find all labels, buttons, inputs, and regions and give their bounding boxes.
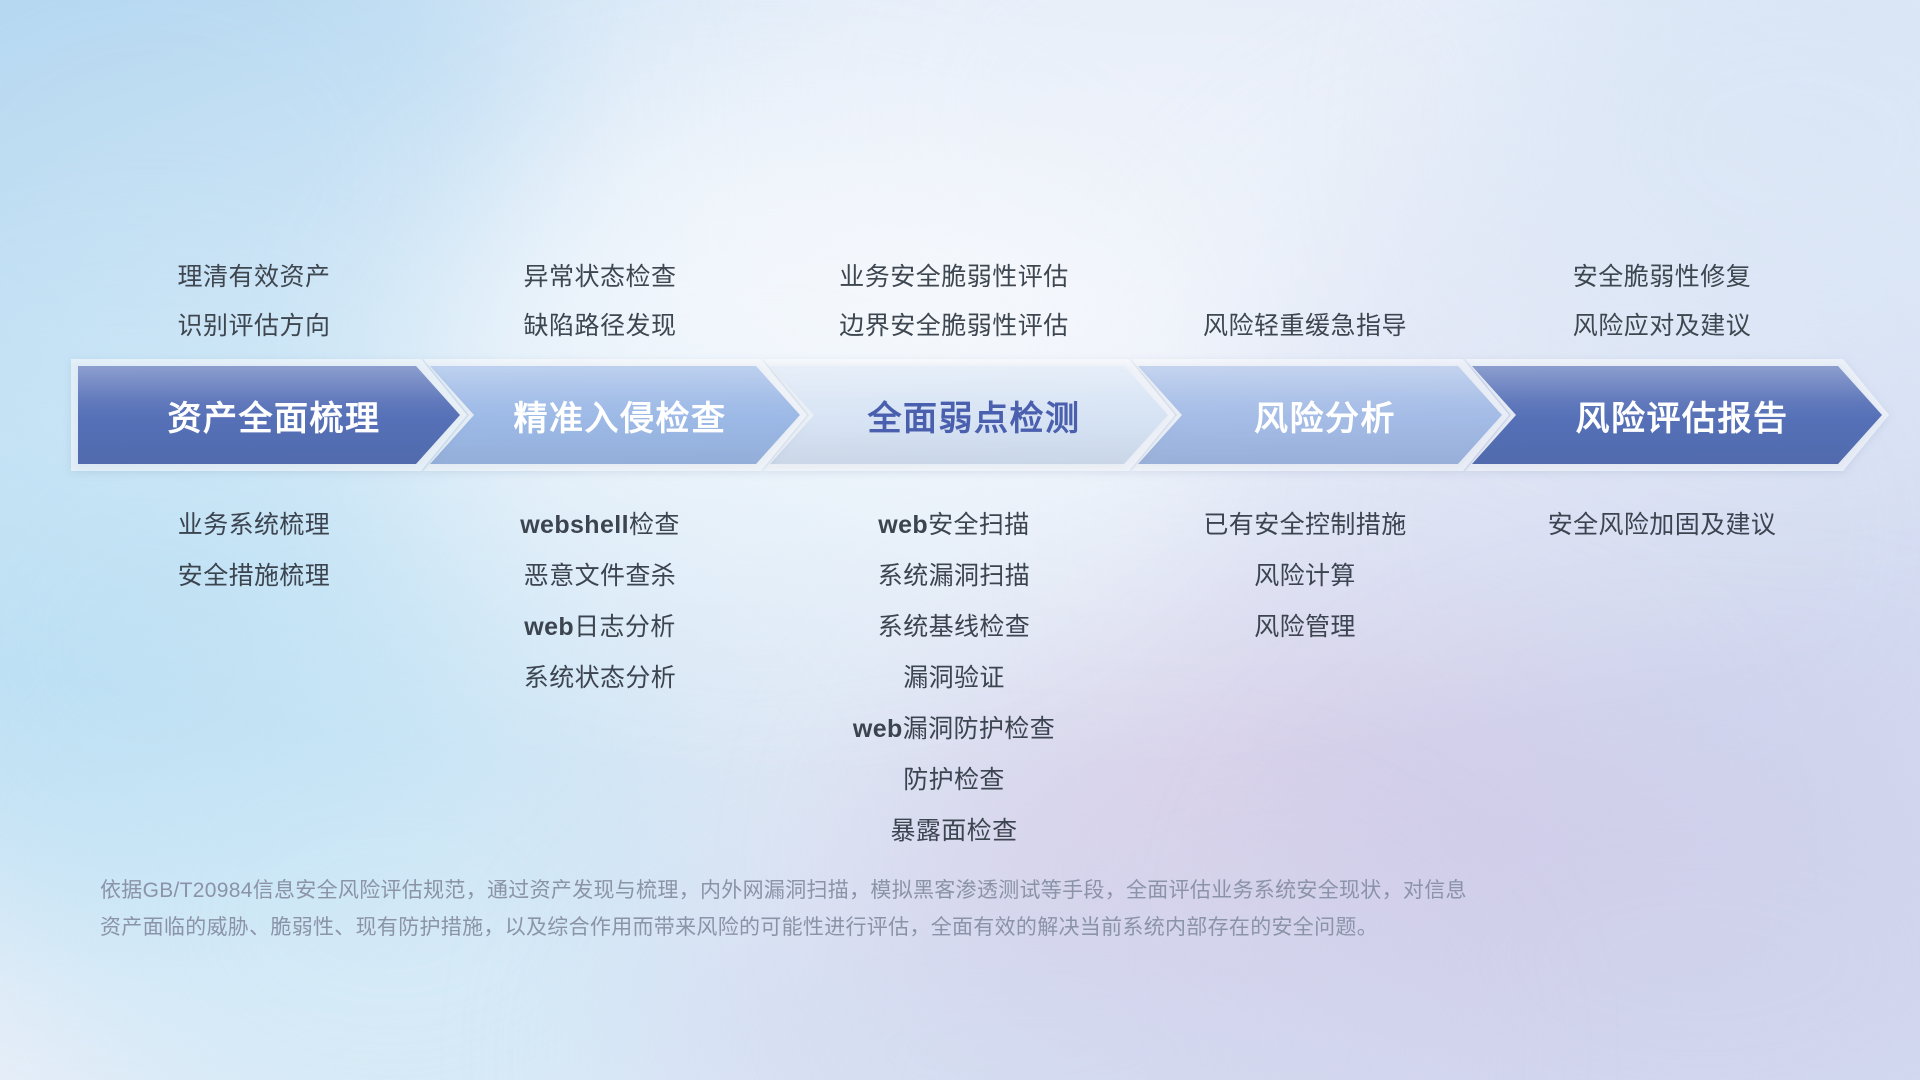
chevron-weakness-detection[interactable]: 全面弱点检测 xyxy=(770,366,1168,464)
top-column-asset-inventory: 理清有效资产识别评估方向 xyxy=(78,253,430,351)
bottom-column-intrusion-check: webshell检查恶意文件查杀web日志分析系统状态分析 xyxy=(430,500,770,704)
activity-item: 暴露面检查 xyxy=(770,806,1138,857)
chevron-asset-inventory[interactable]: 资产全面梳理 xyxy=(78,366,460,464)
top-outcome-item: 风险轻重缓急指导 xyxy=(1138,302,1472,351)
top-outcome-item: 缺陷路径发现 xyxy=(430,302,770,351)
activity-item: web安全扫描 xyxy=(770,500,1138,551)
top-outcome-item: 风险应对及建议 xyxy=(1472,302,1852,351)
activity-item: 系统基线检查 xyxy=(770,602,1138,653)
activity-item-latin: web xyxy=(853,715,903,743)
activity-item-cjk: 日志分析 xyxy=(574,613,676,641)
footer-line-2: 资产面临的威胁、脆弱性、现有防护措施，以及综合作用而带来风险的可能性进行评估，全… xyxy=(100,909,1660,946)
top-outcome-item: 安全脆弱性修复 xyxy=(1472,253,1852,302)
activity-item: 恶意文件查杀 xyxy=(430,551,770,602)
top-outcomes-row: 理清有效资产识别评估方向异常状态检查缺陷路径发现业务安全脆弱性评估边界安全脆弱性… xyxy=(78,231,1852,351)
activity-item: 业务系统梳理 xyxy=(78,500,430,551)
top-column-assessment-report: 安全脆弱性修复风险应对及建议 xyxy=(1472,253,1852,351)
top-outcome-item: 边界安全脆弱性评估 xyxy=(770,302,1138,351)
activity-item-cjk: 安全扫描 xyxy=(928,511,1030,539)
activity-item: webshell检查 xyxy=(430,500,770,551)
bottom-activities-row: 业务系统梳理安全措施梳理webshell检查恶意文件查杀web日志分析系统状态分… xyxy=(78,500,1852,857)
slide-canvas: 理清有效资产识别评估方向异常状态检查缺陷路径发现业务安全脆弱性评估边界安全脆弱性… xyxy=(0,0,1920,1080)
bottom-column-assessment-report: 安全风险加固及建议 xyxy=(1472,500,1852,551)
activity-item: 已有安全控制措施 xyxy=(1138,500,1472,551)
activity-item: 风险管理 xyxy=(1138,602,1472,653)
bottom-column-asset-inventory: 业务系统梳理安全措施梳理 xyxy=(78,500,430,602)
top-outcome-item: 异常状态检查 xyxy=(430,253,770,302)
activity-item: 风险计算 xyxy=(1138,551,1472,602)
activity-item-latin: web xyxy=(524,613,574,641)
bottom-column-risk-analysis: 已有安全控制措施风险计算风险管理 xyxy=(1138,500,1472,653)
top-outcome-item: 业务安全脆弱性评估 xyxy=(770,253,1138,302)
activity-item: 安全措施梳理 xyxy=(78,551,430,602)
activity-item: web日志分析 xyxy=(430,602,770,653)
top-column-weakness-detection: 业务安全脆弱性评估边界安全脆弱性评估 xyxy=(770,253,1138,351)
chevron-label: 风险分析 xyxy=(1244,391,1396,440)
top-outcome-item: 理清有效资产 xyxy=(78,253,430,302)
slide-content: 理清有效资产识别评估方向异常状态检查缺陷路径发现业务安全脆弱性评估边界安全脆弱性… xyxy=(0,0,1920,1080)
process-chevron-band: 资产全面梳理精准入侵检查全面弱点检测风险分析风险评估报告 xyxy=(78,366,1868,464)
activity-item-cjk: 检查 xyxy=(629,511,680,539)
chevron-label: 资产全面梳理 xyxy=(158,391,381,440)
activity-item: 安全风险加固及建议 xyxy=(1472,500,1852,551)
top-column-intrusion-check: 异常状态检查缺陷路径发现 xyxy=(430,253,770,351)
chevron-label: 精准入侵检查 xyxy=(504,391,727,440)
activity-item-latin: webshell xyxy=(520,511,629,539)
footer-line-1: 依据GB/T20984信息安全风险评估规范，通过资产发现与梳理，内外网漏洞扫描，… xyxy=(100,872,1660,909)
activity-item: 系统状态分析 xyxy=(430,653,770,704)
activity-item-cjk: 漏洞防护检查 xyxy=(903,715,1055,743)
activity-item: web漏洞防护检查 xyxy=(770,704,1138,755)
footer-description: 依据GB/T20984信息安全风险评估规范，通过资产发现与梳理，内外网漏洞扫描，… xyxy=(100,872,1660,946)
bottom-column-weakness-detection: web安全扫描系统漏洞扫描系统基线检查漏洞验证web漏洞防护检查防护检查暴露面检… xyxy=(770,500,1138,857)
activity-item: 系统漏洞扫描 xyxy=(770,551,1138,602)
activity-item: 漏洞验证 xyxy=(770,653,1138,704)
chevron-label: 风险评估报告 xyxy=(1566,391,1789,440)
chevron-assessment-report[interactable]: 风险评估报告 xyxy=(1472,366,1882,464)
top-column-risk-analysis: 风险轻重缓急指导 xyxy=(1138,253,1472,351)
chevron-intrusion-check[interactable]: 精准入侵检查 xyxy=(430,366,800,464)
top-outcome-item: 识别评估方向 xyxy=(78,302,430,351)
activity-item: 防护检查 xyxy=(770,755,1138,806)
chevron-label: 全面弱点检测 xyxy=(858,391,1081,440)
activity-item-latin: web xyxy=(878,511,928,539)
chevron-risk-analysis[interactable]: 风险分析 xyxy=(1138,366,1502,464)
